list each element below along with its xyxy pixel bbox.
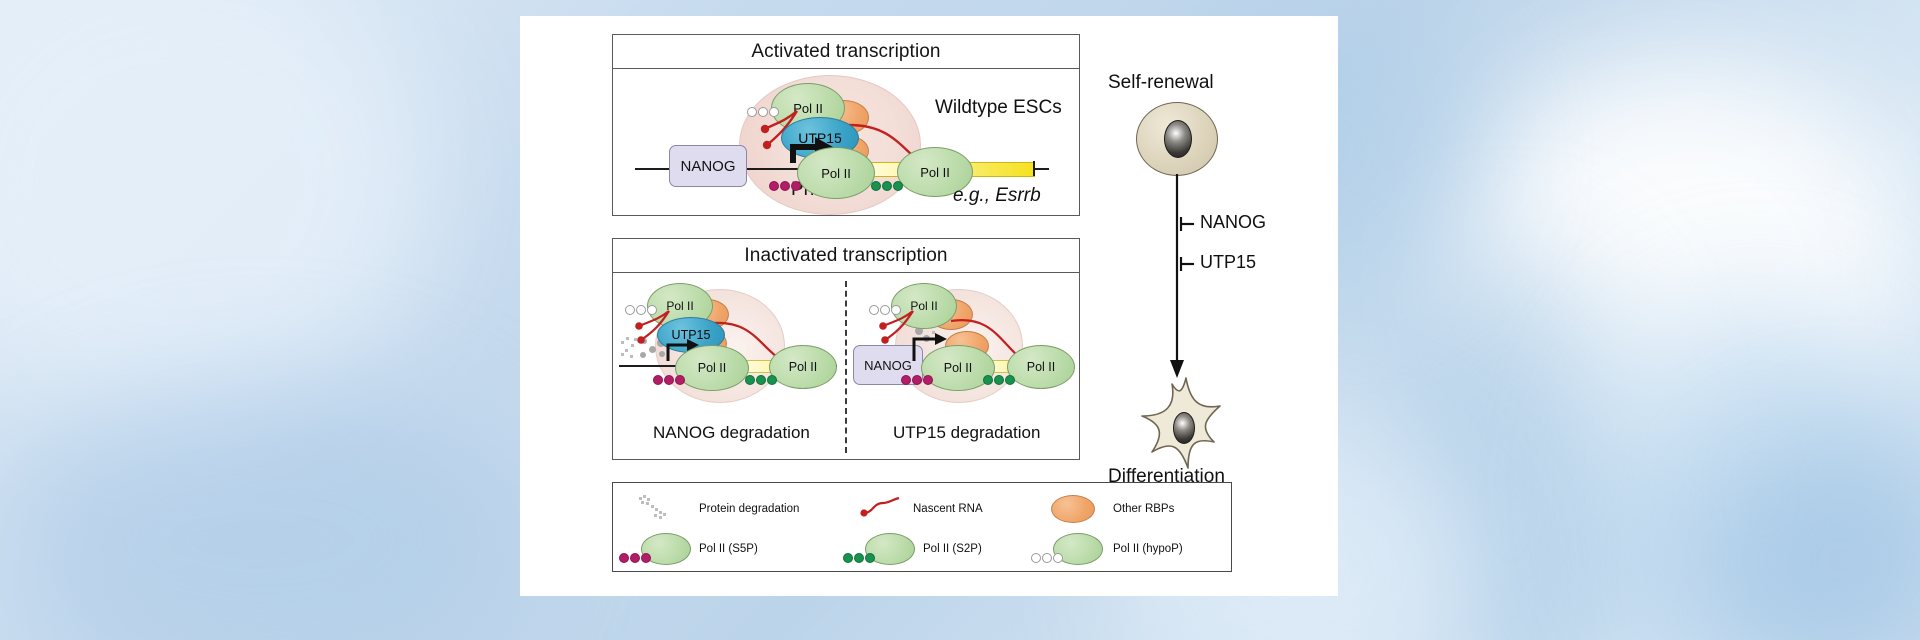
- subpanel-nanog-degradation: Pol II UTP15: [613, 273, 845, 459]
- legend-label-nascent-rna: Nascent RNA: [913, 503, 983, 515]
- subpanel-utp15-degradation: NANOG: [849, 273, 1081, 459]
- ctd-s5p-beads-right: [901, 375, 933, 385]
- polii-label: Pol II: [920, 165, 950, 180]
- panel-activated-title: Activated transcription: [613, 35, 1079, 69]
- polii-label: Pol II: [789, 360, 818, 374]
- self-renewal-differentiation-flow: Self-renewal NANOG UTP15 Differentiation: [1096, 54, 1326, 454]
- nanog-box: NANOG: [669, 145, 747, 187]
- ctd-s2p-beads: [871, 181, 903, 191]
- inhibitor-label-utp15: UTP15: [1200, 252, 1256, 273]
- panel-divider: [845, 281, 847, 453]
- legend-icon-nascent-rna: [859, 497, 905, 519]
- panel-inactivated-title: Inactivated transcription: [613, 239, 1079, 273]
- polii-label: Pol II: [698, 361, 727, 375]
- self-renewal-label: Self-renewal: [1108, 72, 1214, 94]
- ctd-s5p-beads-left: [653, 375, 685, 385]
- polii-s5p-left: Pol II: [675, 345, 749, 391]
- legend-icon-protein-degradation: [635, 495, 685, 523]
- polii-s2p-left: Pol II: [769, 345, 837, 389]
- polii-s5p-promoter: Pol II: [797, 147, 875, 199]
- legend-ctd-s2p: [843, 553, 875, 563]
- differentiated-cell-nucleus: [1173, 412, 1195, 444]
- inhibitor-label-nanog: NANOG: [1200, 212, 1266, 233]
- legend-icon-other-rbps: [1051, 495, 1095, 523]
- panel-inactivated-body: Pol II UTP15: [613, 273, 1079, 459]
- legend-ctd-s5p: [619, 553, 651, 563]
- panel-activated-body: Phase NANOG Pol II: [613, 69, 1079, 215]
- legend-label-polii-s5p: Pol II (S5P): [699, 543, 758, 555]
- differentiation-arrow: [1162, 174, 1192, 380]
- subpanel-caption-utp15: UTP15 degradation: [893, 423, 1040, 443]
- nanog-label: NANOG: [864, 358, 912, 373]
- dna-downstream: [1033, 168, 1049, 170]
- nanog-label: NANOG: [680, 158, 735, 175]
- polii-label: Pol II: [1027, 360, 1056, 374]
- ctd-s2p-beads-right: [983, 375, 1015, 385]
- ctd-s2p-beads-left: [745, 375, 777, 385]
- ctd-s5p-beads: [769, 181, 801, 191]
- panel-activated-transcription: Activated transcription Phase NANOG Pol …: [612, 34, 1080, 216]
- polii-label: Pol II: [944, 361, 973, 375]
- esc-nucleus: [1164, 120, 1192, 158]
- legend-label-polii-hypop: Pol II (hypoP): [1113, 543, 1183, 555]
- legend-label-other-rbps: Other RBPs: [1113, 503, 1174, 515]
- panel-inactivated-transcription: Inactivated transcription: [612, 238, 1080, 460]
- legend-label-protein-degradation: Protein degradation: [699, 503, 799, 515]
- polii-label: Pol II: [821, 166, 851, 181]
- legend-label-polii-s2p: Pol II (S2P): [923, 543, 982, 555]
- example-gene-label: e.g., Esrrb: [953, 185, 1041, 207]
- legend-box: Protein degradation Nascent RNA Other RB…: [612, 482, 1232, 572]
- subpanel-caption-nanog: NANOG degradation: [653, 423, 810, 443]
- condition-label-wildtype: Wildtype ESCs: [935, 97, 1062, 119]
- figure-card: Activated transcription Phase NANOG Pol …: [520, 16, 1338, 596]
- polii-s2p-right: Pol II: [1007, 345, 1075, 389]
- legend-ctd-hypop: [1031, 553, 1063, 563]
